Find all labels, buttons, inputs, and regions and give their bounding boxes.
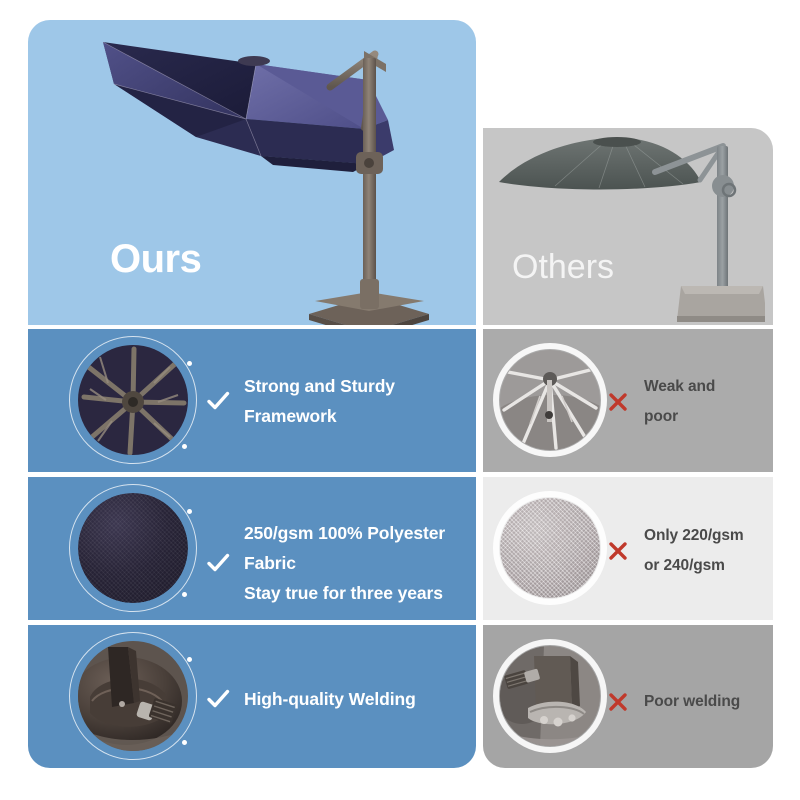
others-feature-3-thumb xyxy=(500,646,600,746)
thumb-dot xyxy=(187,509,192,514)
check-icon xyxy=(205,388,231,414)
ours-feature-1-text: Strong and Sturdy Framework xyxy=(244,371,395,431)
others-feature-3: Poor welding xyxy=(605,687,740,717)
others-feature-2-thumb xyxy=(500,498,600,598)
ours-feature-2: 250/gsm 100% Polyester Fabric Stay true … xyxy=(205,518,445,608)
feature-line: Weak and xyxy=(644,372,715,402)
comparison-infographic: Ours xyxy=(0,0,800,800)
cross-icon xyxy=(605,538,631,564)
others-feature-1-thumb xyxy=(500,350,600,450)
gray-cantilever-umbrella-photo xyxy=(495,134,765,324)
ours-feature-1: Strong and Sturdy Framework xyxy=(205,371,395,431)
poor-welded-joint-closeup-photo xyxy=(500,646,600,746)
feature-line: Poor welding xyxy=(644,687,740,717)
ours-feature-3-text: High-quality Welding xyxy=(244,684,416,714)
ours-hero-panel: Ours xyxy=(28,20,476,325)
feature-line: Fabric xyxy=(244,548,445,578)
welded-joint-closeup-photo xyxy=(78,641,188,751)
others-hero-panel: Others xyxy=(483,128,773,325)
others-feature-2: Only 220/gsm or 240/gsm xyxy=(605,521,744,581)
feature-line: Stay true for three years xyxy=(244,578,445,608)
feature-line: or 240/gsm xyxy=(644,551,744,581)
check-icon xyxy=(205,686,231,712)
feature-line: Framework xyxy=(244,401,395,431)
navy-polyester-fabric-swatch-photo xyxy=(78,493,188,603)
thumb-dot xyxy=(182,444,187,449)
ours-feature-2-text: 250/gsm 100% Polyester Fabric Stay true … xyxy=(244,518,445,608)
thumb-dot xyxy=(187,361,192,366)
ours-feature-3-thumb xyxy=(78,641,188,751)
feature-line: Strong and Sturdy xyxy=(244,371,395,401)
thumb-dot xyxy=(182,592,187,597)
weak-umbrella-framework-photo xyxy=(500,350,600,450)
umbrella-framework-underside-photo xyxy=(78,345,188,455)
thumb-dot xyxy=(187,657,192,662)
cross-icon xyxy=(605,689,631,715)
check-icon xyxy=(205,550,231,576)
others-feature-2-text: Only 220/gsm or 240/gsm xyxy=(644,521,744,581)
feature-line: Only 220/gsm xyxy=(644,521,744,551)
feature-line: 250/gsm 100% Polyester xyxy=(244,518,445,548)
feature-line: High-quality Welding xyxy=(244,684,416,714)
others-feature-1: Weak and poor xyxy=(605,372,715,432)
ours-feature-3: High-quality Welding xyxy=(205,684,416,714)
ours-feature-2-thumb xyxy=(78,493,188,603)
others-label: Others xyxy=(512,250,614,284)
ours-feature-1-thumb xyxy=(78,345,188,455)
others-feature-3-text: Poor welding xyxy=(644,687,740,717)
feature-line: poor xyxy=(644,402,715,432)
others-feature-1-text: Weak and poor xyxy=(644,372,715,432)
thumb-dot xyxy=(182,740,187,745)
cross-icon xyxy=(605,389,631,415)
gray-low-gsm-fabric-swatch-photo xyxy=(500,498,600,598)
ours-label: Ours xyxy=(110,239,201,279)
